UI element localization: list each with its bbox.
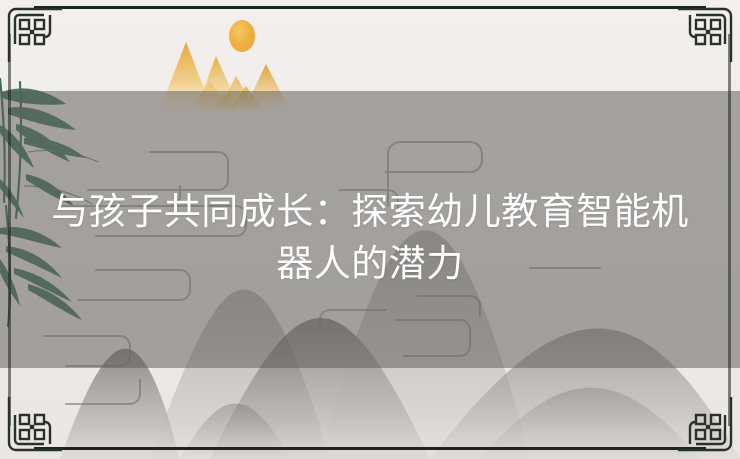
frame-rule-left [8,34,11,426]
corner-meander-icon-bottom-right [676,395,738,457]
corner-meander-icon-top-right [676,2,738,64]
title-block: 与孩子共同成长：探索幼儿教育智能机器人的潜力 [40,186,700,290]
corner-meander-icon-bottom-left [2,395,64,457]
frame-rule-top [34,6,706,9]
corner-meander-icon-top-left [2,2,64,64]
page-title: 与孩子共同成长：探索幼儿教育智能机器人的潜力 [40,186,700,290]
frame-rule-bottom [34,447,706,450]
frame-rule-right [728,34,731,426]
poster-canvas: 与孩子共同成长：探索幼儿教育智能机器人的潜力 [0,0,740,459]
